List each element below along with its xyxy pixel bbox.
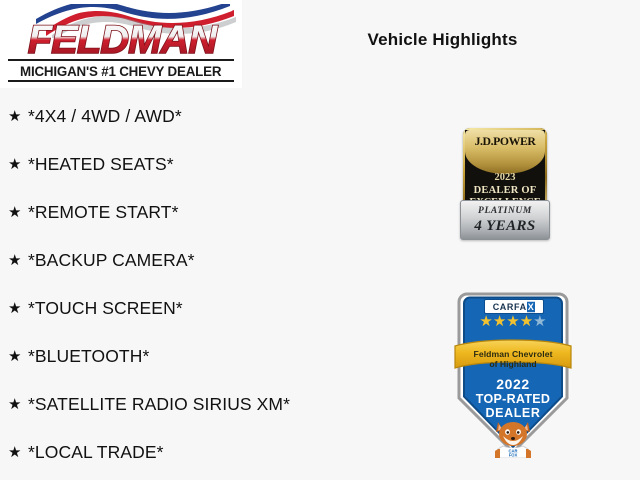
- carfax-brand-logo: CARFAX: [484, 299, 544, 314]
- list-item-label: *SATELLITE RADIO SIRIUS XM*: [28, 394, 290, 415]
- car-fox-mascot-icon: CAR FOX: [489, 418, 537, 458]
- list-item-label: *REMOTE START*: [28, 202, 179, 223]
- list-item: ★ *LOCAL TRADE*: [0, 428, 440, 476]
- list-item: ★ *HEATED SEATS*: [0, 140, 440, 188]
- list-item: ★ *BACKUP CAMERA*: [0, 236, 440, 284]
- star-bullet-icon: ★: [8, 205, 28, 220]
- jd-power-award-line1: DEALER OF: [460, 185, 550, 196]
- carfax-brand-suffix: X: [527, 301, 536, 312]
- carfax-badge: CARFAX ★★★★★ Feldman Chevrolet of Highla…: [453, 288, 573, 458]
- dealer-wordmark: FELDMAN: [8, 20, 236, 60]
- list-item: ★ *BLUETOOTH*: [0, 332, 440, 380]
- star-bullet-icon: ★: [8, 301, 28, 316]
- star-bullet-icon: ★: [8, 349, 28, 364]
- list-item-label: *4X4 / 4WD / AWD*: [28, 106, 182, 127]
- tagline-rule-bottom: [8, 80, 234, 82]
- dealer-tagline: MICHIGAN'S #1 CHEVY DEALER: [8, 62, 234, 80]
- list-item-label: *LOCAL TRADE*: [28, 442, 164, 463]
- list-item-label: *TOUCH SCREEN*: [28, 298, 183, 319]
- star-icon: ★: [533, 313, 546, 330]
- list-item-label: *BACKUP CAMERA*: [28, 250, 195, 271]
- dealer-tagline-text: MICHIGAN'S #1 CHEVY DEALER: [20, 64, 221, 79]
- list-item: ★ *REMOTE START*: [0, 188, 440, 236]
- carfax-award-year: 2022: [453, 376, 573, 392]
- list-item: ★ *4X4 / 4WD / AWD*: [0, 92, 440, 140]
- star-bullet-icon: ★: [8, 253, 28, 268]
- list-item-label: *HEATED SEATS*: [28, 154, 174, 175]
- jd-power-duration: 4 YEARS: [460, 218, 550, 235]
- list-item: ★ *TOUCH SCREEN*: [0, 284, 440, 332]
- carfax-brand-prefix: CARFA: [493, 301, 527, 312]
- carfax-dealer-name-line2: of Highland: [453, 359, 573, 369]
- tagline-rule-top: [8, 59, 234, 61]
- list-item: ★ *SATELLITE RADIO SIRIUS XM*: [0, 380, 440, 428]
- jd-power-year: 2023: [460, 172, 550, 183]
- dealer-logo: FELDMAN MICHIGAN'S #1 CHEVY DEALER: [0, 0, 242, 88]
- dealer-wordmark-text: FELDMAN: [28, 20, 219, 60]
- list-item-label: *BLUETOOTH*: [28, 346, 149, 367]
- page-title: Vehicle Highlights: [245, 30, 640, 50]
- star-bullet-icon: ★: [8, 109, 28, 124]
- carfax-dealer-name-line1: Feldman Chevrolet: [453, 349, 573, 359]
- star-icon: ★: [520, 313, 533, 330]
- star-icon: ★: [479, 313, 492, 330]
- star-bullet-icon: ★: [8, 445, 28, 460]
- vehicle-highlights-list: ★ *4X4 / 4WD / AWD* ★ *HEATED SEATS* ★ *…: [0, 92, 440, 476]
- jd-power-badge: J.D.POWER 2023 DEALER OF EXCELLENCE PLAT…: [460, 128, 550, 240]
- award-badges-column: J.D.POWER 2023 DEALER OF EXCELLENCE PLAT…: [440, 110, 640, 470]
- star-icon: ★: [506, 313, 519, 330]
- fox-shirt-line2: FOX: [509, 452, 518, 457]
- star-icon: ★: [493, 313, 506, 330]
- star-bullet-icon: ★: [8, 157, 28, 172]
- star-bullet-icon: ★: [8, 397, 28, 412]
- jd-power-brand: J.D.POWER: [459, 136, 551, 148]
- jd-power-tier: PLATINUM: [460, 206, 550, 216]
- carfax-award-line1: TOP-RATED: [453, 392, 573, 406]
- carfax-star-rating: ★★★★★: [453, 314, 573, 329]
